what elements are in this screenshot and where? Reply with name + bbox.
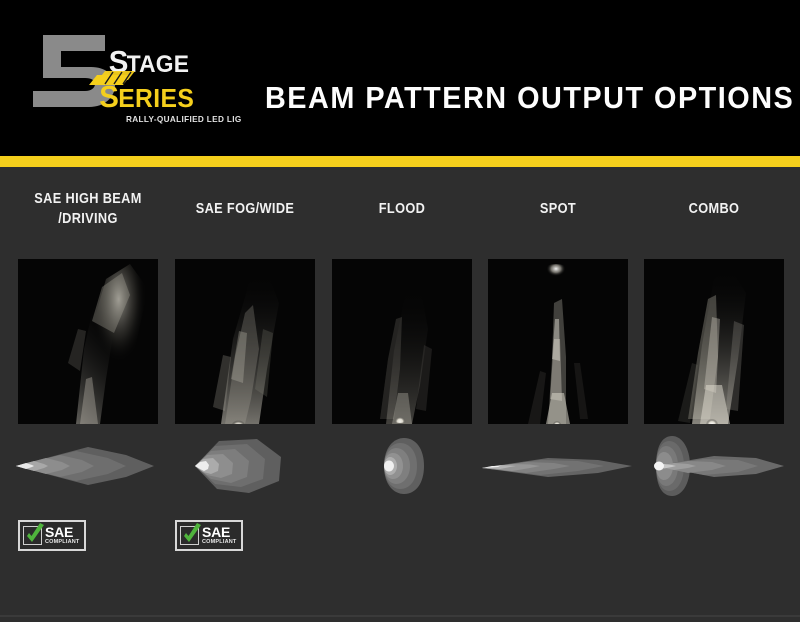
logo-tagline: RALLY-QUALIFIED LED LIGHTING	[126, 115, 242, 124]
column-label-sae-fog-wide: SAE FOG/WIDE	[175, 199, 316, 219]
column-label-line1: COMBO	[689, 201, 740, 217]
beam-column-spot: SPOT	[478, 167, 638, 622]
sae-badge-word: SAE	[45, 525, 80, 539]
sae-badge-word: SAE	[202, 525, 237, 539]
beam-diagram-flood	[322, 435, 482, 497]
bottom-divider	[0, 615, 800, 617]
beam-photo-sae-fog-wide	[175, 259, 315, 424]
accent-divider-bar	[0, 156, 800, 167]
page-title: BEAM PATTERN OUTPUT OPTIONS	[265, 78, 749, 118]
sae-compliant-badge: SAE COMPLIANT	[175, 520, 243, 551]
column-label-flood: FLOOD	[332, 199, 473, 219]
column-label-line1: SAE FOG/WIDE	[196, 201, 295, 217]
column-label-spot: SPOT	[488, 199, 629, 219]
svg-text:S: S	[99, 80, 118, 114]
column-label-line1: SPOT	[540, 201, 576, 217]
sae-badge-sub: COMPLIANT	[202, 540, 237, 546]
svg-text:ERIES: ERIES	[118, 84, 194, 113]
brand-logo: S TAGE S ERIES RALLY-QUALIFIED LED LIGHT…	[27, 27, 242, 132]
beam-diagram-sae-fog-wide	[165, 435, 325, 497]
beam-diagram-spot	[478, 435, 638, 497]
beam-photo-sae-high-beam-driving	[18, 259, 158, 424]
column-label-combo: COMBO	[644, 199, 785, 219]
column-label-line2: /DRIVING	[18, 209, 159, 229]
beam-column-flood: FLOOD	[322, 167, 482, 622]
beam-column-combo: COMBO	[634, 167, 794, 622]
checkmark-icon	[23, 526, 42, 545]
beam-photo-spot	[488, 259, 628, 424]
beam-diagram-combo	[634, 435, 794, 497]
beam-photo-combo	[644, 259, 784, 424]
beam-comparison-grid: SAE HIGH BEAM /DRIVING	[0, 167, 800, 622]
column-label-line1: SAE HIGH BEAM	[34, 191, 141, 207]
checkmark-icon	[180, 526, 199, 545]
beam-photo-flood	[332, 259, 472, 424]
beam-column-sae-fog-wide: SAE FOG/WIDE	[165, 167, 325, 622]
beam-diagram-sae-high-beam-driving	[8, 435, 168, 497]
sae-badge-sub: COMPLIANT	[45, 540, 80, 546]
svg-text:TAGE: TAGE	[127, 50, 189, 77]
sae-compliant-badge: SAE COMPLIANT	[18, 520, 86, 551]
beam-column-sae-high-beam-driving: SAE HIGH BEAM /DRIVING	[8, 167, 168, 622]
column-label-sae-high-beam-driving: SAE HIGH BEAM /DRIVING	[18, 189, 159, 229]
header-bar: S TAGE S ERIES RALLY-QUALIFIED LED LIGHT…	[0, 0, 800, 156]
column-label-line1: FLOOD	[379, 201, 425, 217]
